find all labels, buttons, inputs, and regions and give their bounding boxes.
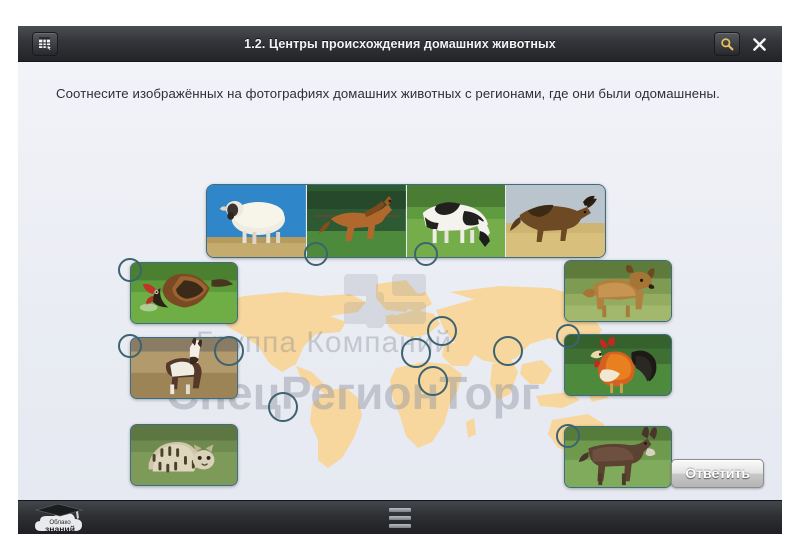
close-button[interactable] [746, 32, 772, 56]
drop-top-center[interactable] [414, 242, 438, 266]
drop-andes[interactable] [118, 334, 142, 358]
bottom-bar: Облако знаний [18, 500, 782, 534]
application-window: 1.2. Центры происхождения домашних живот… [18, 26, 782, 534]
drop-mexico[interactable] [118, 258, 142, 282]
instruction-text: Соотнесите изображённых на фотографиях д… [56, 84, 746, 104]
photo-card-dog[interactable] [564, 260, 672, 322]
rooster-photo [565, 335, 671, 395]
drop-anatolia[interactable] [427, 316, 457, 346]
wildcat-photo [131, 425, 237, 485]
photo-card-sheep[interactable] [207, 185, 307, 257]
drop-near-east-west[interactable] [401, 338, 431, 368]
turkey-photo [131, 263, 237, 323]
window-title: 1.2. Центры происхождения домашних живот… [18, 37, 782, 51]
drop-strip-left[interactable] [304, 242, 328, 266]
close-x-icon [752, 37, 767, 52]
photo-card-turkey[interactable] [130, 262, 238, 324]
dog-photo [565, 261, 671, 321]
sheep-photo [207, 185, 306, 257]
top-animal-strip [206, 184, 606, 258]
titlebar-controls [714, 32, 772, 56]
drop-southeast-asia[interactable] [556, 324, 580, 348]
exercise-content: Соотнесите изображённых на фотографиях д… [18, 62, 782, 500]
hamburger-line-3 [389, 524, 411, 528]
drop-africa-lower[interactable] [556, 424, 580, 448]
drop-north-america[interactable] [214, 336, 244, 366]
hamburger-line-2 [389, 516, 411, 520]
drop-east-africa[interactable] [418, 366, 448, 396]
brand-logo[interactable]: Облако знаний [30, 502, 94, 534]
cloud-of-knowledge-logo-icon: Облако знаний [30, 502, 94, 534]
photo-card-goat[interactable] [506, 185, 605, 257]
donkey-photo [565, 427, 671, 487]
svg-text:знаний: знаний [45, 524, 75, 534]
photo-card-rooster[interactable] [564, 334, 672, 396]
photo-card-wildcat[interactable] [130, 424, 238, 486]
title-bar: 1.2. Центры происхождения домашних живот… [18, 26, 782, 62]
hamburger-line-1 [389, 508, 411, 512]
photo-card-donkey[interactable] [564, 426, 672, 488]
search-button[interactable] [714, 32, 740, 56]
hamburger-menu-button[interactable] [389, 508, 411, 528]
answer-button[interactable]: Ответить [671, 459, 764, 488]
goat-photo [506, 185, 605, 257]
table-grid-icon [38, 36, 53, 51]
table-grid-icon-button[interactable] [32, 32, 58, 56]
magnifier-icon [720, 37, 734, 51]
drop-south-asia[interactable] [493, 336, 523, 366]
drop-south-america[interactable] [268, 392, 298, 422]
